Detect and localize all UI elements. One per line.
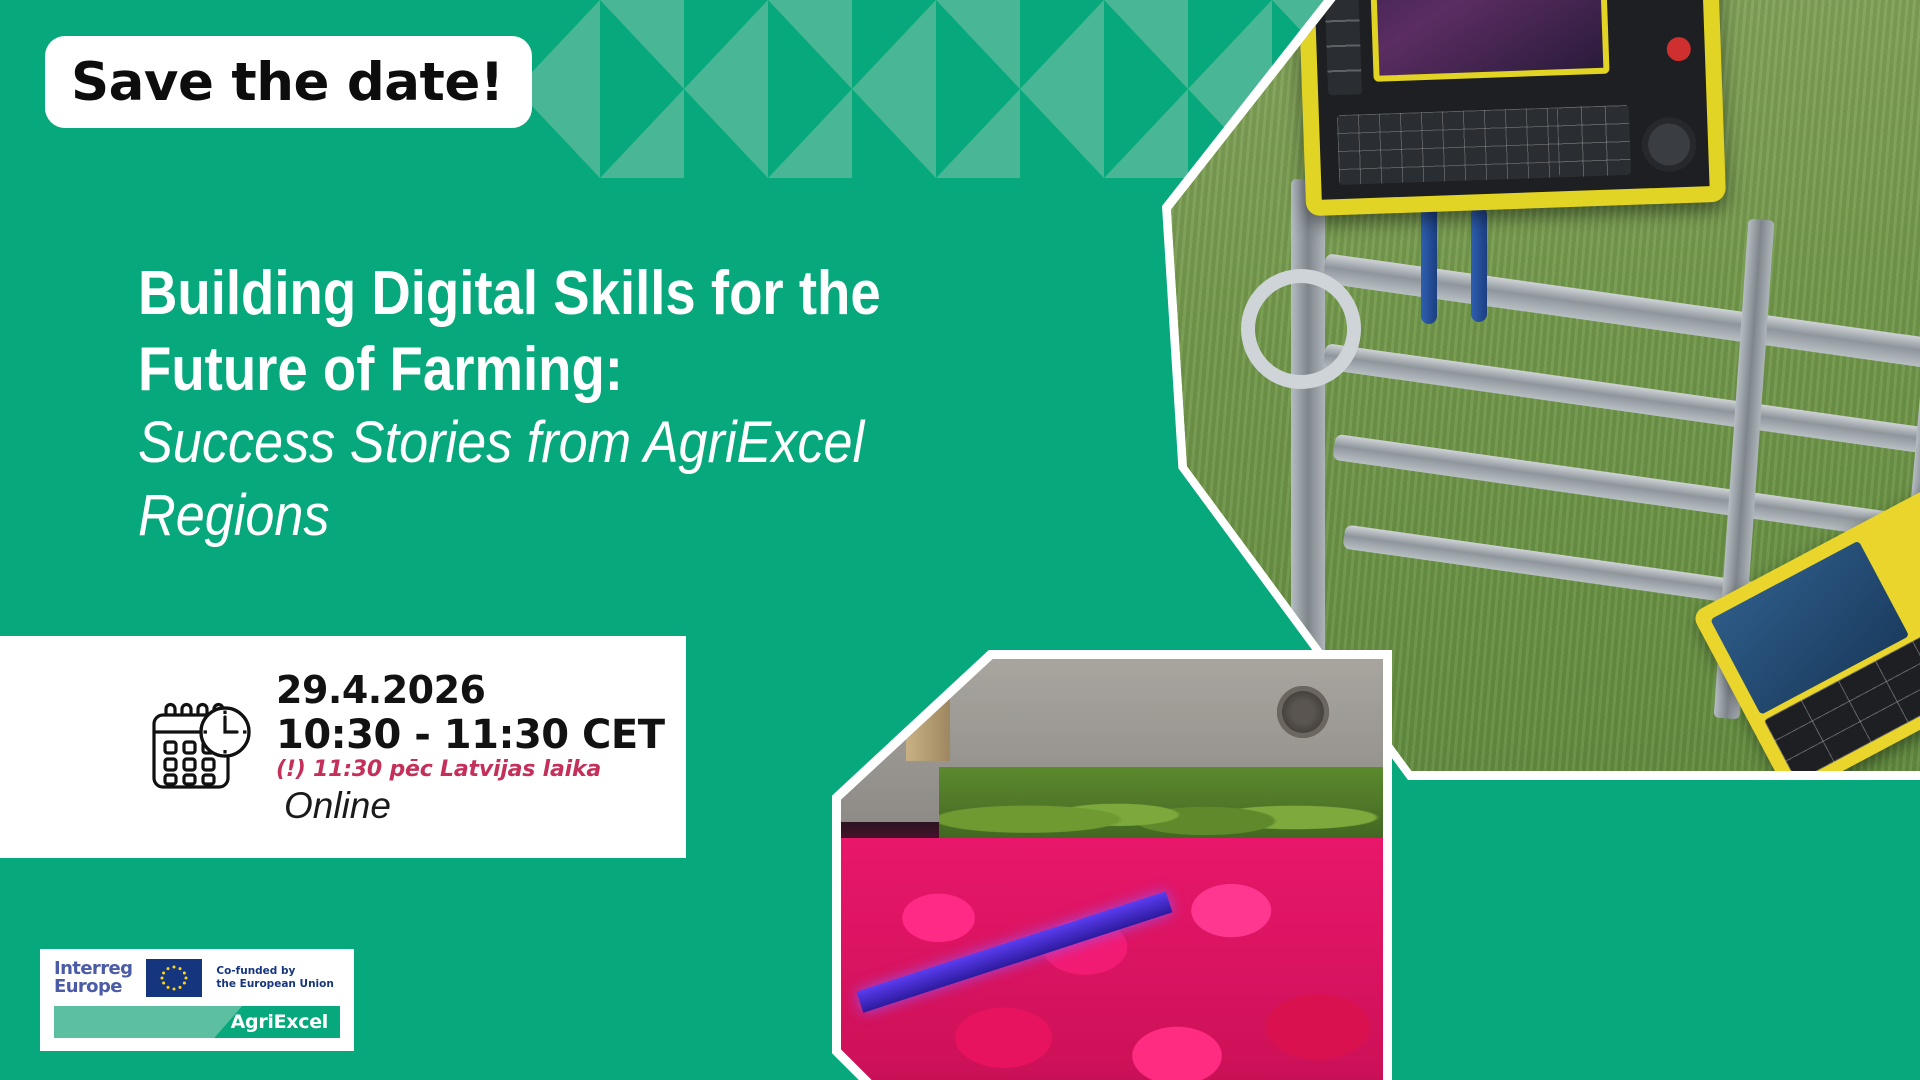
bottom-right-photo	[832, 650, 1392, 1080]
triangle-cell	[600, 89, 684, 178]
interreg-agriexcel-logo: Interreg Europe	[37, 946, 357, 1054]
page-title: Building Digital Skills for the Future o…	[138, 256, 1078, 552]
terminal-dpad	[1641, 117, 1697, 173]
save-the-date-badge: Save the date!	[45, 36, 532, 128]
ventilation-fan	[1277, 686, 1329, 738]
agriexcel-bar: AgriExcel	[54, 1006, 340, 1038]
wooden-shelf	[906, 675, 950, 761]
triangle-cell	[1020, 0, 1104, 89]
event-text-group: 29.4.2026 10:30 - 11:30 CET (!) 11:30 pē…	[276, 668, 665, 827]
gate-post	[1291, 179, 1325, 699]
triangle-cell	[1020, 89, 1104, 178]
event-details-box: 29.4.2026 10:30 - 11:30 CET (!) 11:30 pē…	[0, 636, 686, 858]
pink-lit-lettuce	[841, 838, 1383, 1080]
bottom-right-photo-inner	[841, 659, 1383, 1080]
logo-top-row: Interreg Europe	[54, 959, 340, 997]
interreg-europe-wordmark: Interreg Europe	[54, 960, 132, 997]
triangle-cell	[768, 0, 852, 89]
subtitle-line-2: Regions	[138, 480, 984, 553]
triangle-cell	[1104, 0, 1188, 89]
eu-flag-icon	[146, 959, 202, 997]
project-name-label: AgriExcel	[231, 1011, 328, 1033]
triangle-cell	[852, 0, 936, 89]
triangle-cell	[684, 89, 768, 178]
cable	[1471, 207, 1487, 322]
hydroponic-lettuce-image	[841, 659, 1383, 1080]
terminal-numpad	[1557, 105, 1631, 177]
triangle-cell	[600, 0, 684, 89]
terminal-side-buttons	[1323, 0, 1362, 95]
event-location: Online	[284, 786, 665, 827]
eu-funding-line-2: the European Union	[216, 978, 333, 991]
triangle-cell	[936, 0, 1020, 89]
headline-line-2: Future of Farming:	[138, 332, 965, 408]
subtitle-line-1: Success Stories from AgriExcel	[138, 407, 984, 480]
event-timezone-note: (!) 11:30 pēc Latvijas laika	[276, 756, 665, 784]
terminal-keyboard	[1337, 106, 1589, 185]
triangle-cell	[768, 89, 852, 178]
cable	[1421, 204, 1437, 324]
event-time: 10:30 - 11:30 CET	[276, 713, 665, 759]
terminal-power-button	[1666, 37, 1691, 62]
triangle-cell	[852, 89, 936, 178]
farm-terminal-device	[1296, 0, 1726, 216]
triangle-cell	[1104, 89, 1188, 178]
event-date: 29.4.2026	[276, 668, 665, 713]
poster-canvas: Save the date! Building Digital Skills f…	[0, 0, 1920, 1080]
eu-funding-line-1: Co-funded by	[216, 965, 333, 978]
triangle-cell	[684, 0, 768, 89]
triangle-cell	[1188, 0, 1272, 89]
headline-line-1: Building Digital Skills for the	[138, 256, 965, 332]
triangle-cell	[936, 89, 1020, 178]
save-the-date-label: Save the date!	[71, 52, 504, 113]
terminal-screen	[1369, 0, 1610, 82]
calendar-clock-icon	[148, 697, 256, 798]
eu-funding-text: Co-funded by the European Union	[216, 965, 333, 991]
interreg-line-2: Europe	[54, 978, 132, 996]
